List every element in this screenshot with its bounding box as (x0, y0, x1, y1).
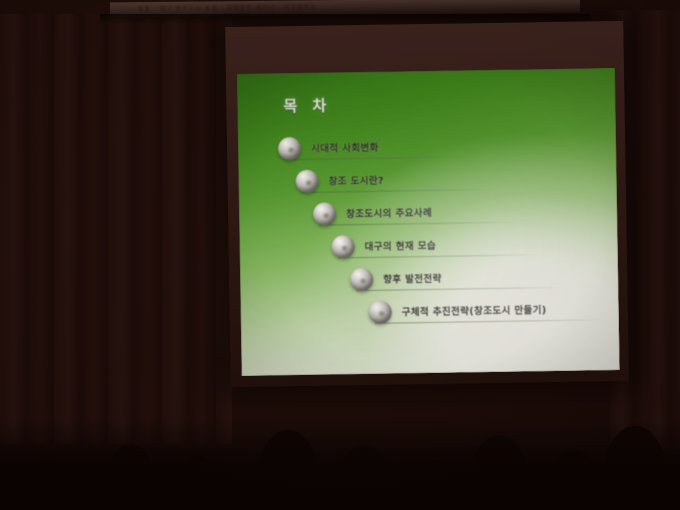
projection-screen: 목 차 시대적 사회변화창조 도시란?창조도시의 주요사례대구의 현재 모습향후… (227, 23, 625, 385)
toc-item-label: 창조 도시란? (329, 173, 385, 188)
auditorium-photo: 발표 · 대구 창조도시 포럼 · 지역발전 세미나 · 대구광역시 목 차 시… (0, 0, 680, 510)
curtain-left (0, 14, 232, 444)
toc-item: 구체적 추진전략(창조도시 만들기) (240, 295, 618, 334)
sphere-bullet-icon (369, 301, 392, 324)
toc-item-label: 향후 발전전략 (383, 271, 442, 286)
toc-separator-line (284, 156, 480, 160)
sphere-bullet-icon (295, 170, 318, 193)
foreground-floor (0, 464, 680, 510)
toc-separator-line (356, 287, 568, 291)
presentation-slide: 목 차 시대적 사회변화창조 도시란?창조도시의 주요사례대구의 현재 모습향후… (237, 68, 620, 376)
toc-separator-line (319, 221, 525, 225)
toc-item-label: 창조도시의 주요사례 (346, 205, 432, 220)
sphere-bullet-icon (313, 202, 336, 225)
table-of-contents: 시대적 사회변화창조 도시란?창조도시의 주요사례대구의 현재 모습향후 발전전… (238, 130, 619, 334)
sphere-bullet-icon (278, 137, 301, 160)
sphere-bullet-icon (331, 235, 354, 258)
toc-separator-line (302, 189, 498, 193)
banner-text: 발표 · 대구 창조도시 포럼 · 지역발전 세미나 · 대구광역시 (138, 2, 316, 13)
sphere-bullet-icon (350, 268, 373, 291)
toc-separator-line (338, 254, 544, 258)
toc-item-label: 대구의 현재 모습 (365, 238, 437, 253)
toc-item-label: 시대적 사회변화 (311, 140, 379, 155)
toc-item-label: 구체적 추진전략(창조도시 만들기) (402, 302, 547, 318)
toc-separator-line (375, 319, 605, 324)
slide-title: 목 차 (283, 94, 331, 116)
